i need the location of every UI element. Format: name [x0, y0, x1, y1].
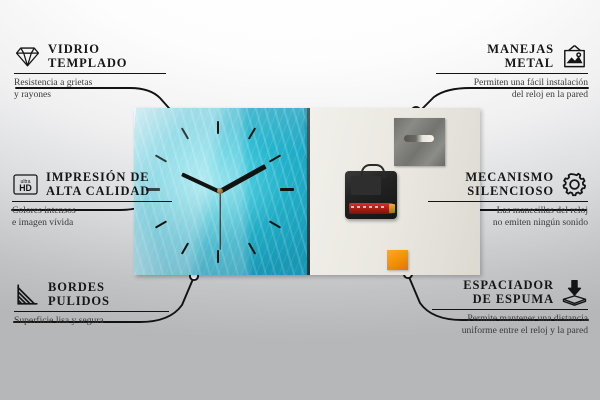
callout-impresion-alta-calidad: ultra HD IMPRESIÓN DE ALTA CALIDAD Color…: [12, 170, 172, 228]
callout-description: Superficie lisa y segura: [14, 315, 169, 326]
callout-divider: [14, 73, 166, 74]
metal-hanger-plate: [394, 118, 445, 166]
clock-second-hand: [219, 192, 220, 250]
callout-header: VIDRIO TEMPLADO: [14, 42, 166, 70]
dial-tick: [217, 250, 219, 263]
callout-vidrio-templado: VIDRIO TEMPLADO Resistencia a grietas y …: [14, 42, 166, 100]
callout-title: VIDRIO TEMPLADO: [48, 42, 127, 70]
callout-description: Las manecillas del reloj no emiten ningú…: [428, 205, 588, 228]
dial-tick: [248, 127, 256, 139]
dial-tick: [269, 154, 281, 162]
battery-label: [351, 206, 387, 208]
dial-tick: [280, 188, 294, 191]
polished-edges-icon: [14, 281, 41, 308]
callout-description: Colores intensos e imagen vívida: [12, 205, 172, 228]
clock-hand-cap: [217, 188, 223, 194]
callout-divider: [12, 201, 172, 202]
callout-divider: [436, 73, 588, 74]
diamond-icon: [14, 43, 41, 70]
dial-tick: [181, 242, 189, 254]
callout-bordes-pulidos: BORDES PULIDOS Superficie lisa y segura: [14, 280, 169, 327]
movement-body: [351, 176, 381, 195]
callout-divider: [432, 309, 588, 310]
gear-icon: [561, 171, 588, 198]
svg-text:HD: HD: [19, 183, 32, 193]
callout-description: Permiten una fácil instalación del reloj…: [436, 77, 588, 100]
clock-minute-hand: [219, 164, 267, 194]
callout-header: ESPACIADOR DE ESPUMA: [432, 278, 588, 306]
dial-tick: [269, 220, 281, 228]
foam-spacer-arrow-icon: [561, 279, 588, 306]
picture-frame-hanger-icon: [561, 43, 588, 70]
dial-tick: [248, 242, 256, 254]
callout-header: MANEJAS METAL: [436, 42, 588, 70]
callout-manejas-metal: MANEJAS METAL Permiten una fácil instala…: [436, 42, 588, 100]
callout-header: BORDES PULIDOS: [14, 280, 169, 308]
callout-title: MANEJAS METAL: [487, 42, 554, 70]
callout-description: Permite mantener una distancia uniforme …: [432, 313, 588, 336]
callout-title: MECANISMO SILENCIOSO: [465, 170, 554, 198]
callout-mecanismo-silencioso: MECANISMO SILENCIOSO Las manecillas del …: [428, 170, 588, 228]
callout-espaciador-de-espuma: ESPACIADOR DE ESPUMA Permite mantener un…: [432, 278, 588, 336]
ultra-hd-icon: ultra HD: [12, 171, 39, 198]
dial-tick: [155, 154, 167, 162]
clock-hour-hand: [181, 172, 221, 193]
dial-tick: [217, 121, 219, 134]
callout-divider: [428, 201, 588, 202]
callout-divider: [14, 311, 169, 312]
hanger-slot: [404, 135, 434, 142]
clock-movement: [345, 171, 397, 219]
callout-header: ultra HD IMPRESIÓN DE ALTA CALIDAD: [12, 170, 172, 198]
callout-title: IMPRESIÓN DE ALTA CALIDAD: [46, 170, 150, 198]
callout-title: BORDES PULIDOS: [48, 280, 110, 308]
dial-tick: [181, 127, 189, 139]
foam-spacer: [387, 250, 408, 270]
infographic-canvas: VIDRIO TEMPLADO Resistencia a grietas y …: [0, 0, 600, 400]
callout-header: MECANISMO SILENCIOSO: [428, 170, 588, 198]
callout-title: ESPACIADOR DE ESPUMA: [463, 278, 554, 306]
battery: [349, 203, 393, 214]
callout-description: Resistencia a grietas y rayones: [14, 77, 166, 100]
